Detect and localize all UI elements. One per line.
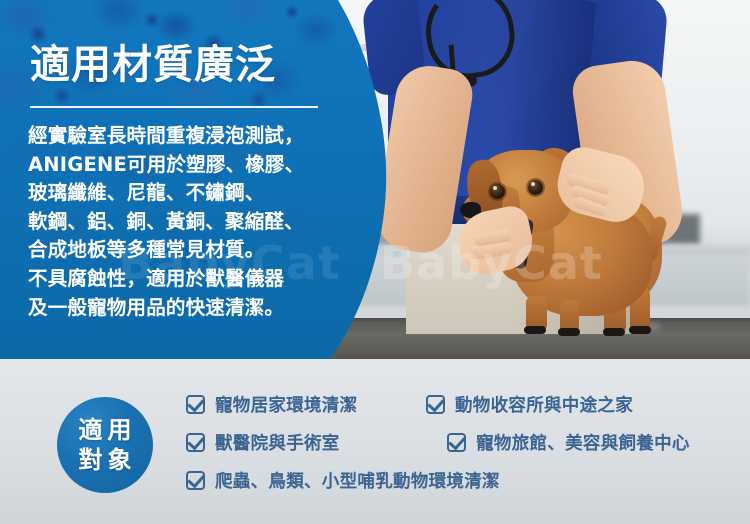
body-line: 玻璃纖維、尼龍、不鏽鋼、 <box>28 179 332 208</box>
badge-label-line2: 對象 <box>74 445 137 475</box>
list-item-label: 動物收容所與中途之家 <box>455 392 633 417</box>
dog-leg <box>526 296 547 330</box>
list-item[interactable]: 爬蟲、鳥類、小型哺乳動物環境清潔 <box>186 468 500 493</box>
body-line: 及一般寵物用品的快速清潔。 <box>28 294 332 323</box>
dog-paw <box>558 328 580 336</box>
list-item[interactable]: 寵物旅館、美容與飼養中心 <box>447 430 746 455</box>
list-item-label: 寵物旅館、美容與飼養中心 <box>476 430 690 455</box>
body-line: 經實驗室長時間重複浸泡測試， <box>28 122 332 151</box>
list-item-label: 獸醫院與手術室 <box>215 430 340 455</box>
body-line: 軟鋼、鋁、銅、黃銅、聚縮醛、 <box>28 208 332 237</box>
dog-paw <box>603 328 625 336</box>
dog-eye-glint <box>493 186 497 190</box>
page-title: 適用材質廣泛 <box>30 32 276 90</box>
body-line: 不具腐蝕性，適用於獸醫儀器 <box>28 265 332 294</box>
body-line: 合成地板等多種常見材質。 <box>28 236 332 265</box>
body-copy: 經實驗室長時間重複浸泡測試， ANIGENE可用於塑膠、橡膠、 玻璃纖維、尼龍、… <box>28 122 332 322</box>
dog-paw <box>629 326 651 334</box>
list-item-label: 爬蟲、鳥類、小型哺乳動物環境清潔 <box>215 468 500 493</box>
applicable-targets-badge: 適用 對象 <box>57 397 153 493</box>
checklist: 寵物居家環境清潔 動物收容所與中途之家 獸醫院與手術室 寵物旅館、美容與飼養中心… <box>186 385 746 499</box>
list-item[interactable]: 獸醫院與手術室 <box>186 430 425 455</box>
checklist-row: 寵物居家環境清潔 動物收容所與中途之家 <box>186 385 746 423</box>
product-feature-banner: BabyCat BabyCat 適用材質廣泛 經實驗室長時間重複浸泡測試， AN… <box>0 0 750 524</box>
checkbox-checked-icon[interactable] <box>186 433 205 452</box>
list-item-label: 寵物居家環境清潔 <box>215 392 357 417</box>
checkbox-checked-icon[interactable] <box>186 395 205 414</box>
checkbox-checked-icon[interactable] <box>447 433 466 452</box>
dog-eye-glint <box>531 182 535 186</box>
checklist-row: 爬蟲、鳥類、小型哺乳動物環境清潔 <box>186 461 746 499</box>
body-line: ANIGENE可用於塑膠、橡膠、 <box>28 151 332 180</box>
checkbox-checked-icon[interactable] <box>186 471 205 490</box>
list-item[interactable]: 動物收容所與中途之家 <box>426 392 726 417</box>
badge-label-line1: 適用 <box>74 415 137 445</box>
checklist-row: 獸醫院與手術室 寵物旅館、美容與飼養中心 <box>186 423 746 461</box>
title-divider <box>30 106 318 108</box>
list-item[interactable]: 寵物居家環境清潔 <box>186 392 426 417</box>
vet-dog-photo <box>330 0 750 359</box>
checkbox-checked-icon[interactable] <box>426 395 445 414</box>
dog-paw <box>524 326 546 334</box>
